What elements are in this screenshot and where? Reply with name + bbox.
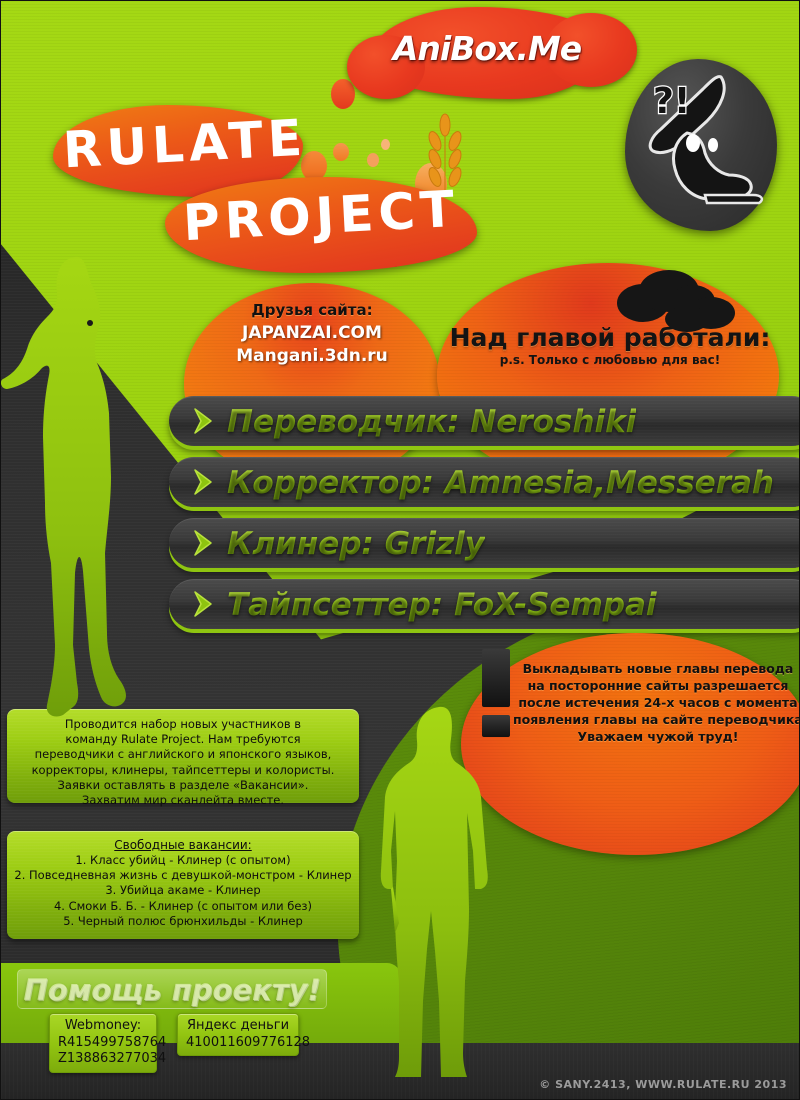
credits-subtitle: p.s. Только с любовью для вас! [447,353,773,367]
vacancy-item: 3. Убийца акаме - Клинер [13,883,353,898]
warning-text: Выкладывать новые главы перевода на пост… [513,661,800,745]
rulate-project-logo: RULATE PROJECT [53,101,523,261]
warning-line: на посторонние сайты разрешается [513,678,800,695]
svg-text:?!: ?! [653,81,690,122]
warning-line: после истечения 24-х часов с момента [513,695,800,712]
webmoney-z-purse: Z138863277034 [58,1051,148,1068]
female-silhouette [0,253,165,723]
staff-bar-cleaner[interactable]: Клинер: Grizly [169,518,800,568]
webmoney-label: Webmoney: [58,1018,148,1035]
warning-line: Уважаем чужой труд! [513,729,800,746]
friend-link-mangani[interactable]: Mangani.3dn.ru [184,346,440,366]
staff-label-cleaner: Клинер: Grizly [227,524,485,564]
vacancy-item: 1. Класс убийц - Клинер (с опытом) [13,853,353,868]
chevron-right-icon [191,590,217,618]
chevron-right-icon [191,407,217,435]
recruit-line: Заявки оставлять в разделе «Вакансии». [13,778,353,793]
chevron-right-icon [191,468,217,496]
webmoney-r-purse: R415499758764 [58,1035,148,1052]
recruit-line: Захватим мир сканлейта вместе. [13,793,353,808]
warning-line: появления главы на сайте переводчика. [513,712,800,729]
male-silhouette [369,701,517,1079]
donate-title: Помощь проекту! [17,969,327,1009]
anibox-brand-label: AniBox.Me [369,29,605,68]
yandex-number: 410011609776128 [186,1035,290,1052]
yandex-label: Яндекс деньги [186,1018,290,1035]
staff-label-proofreader: Корректор: Amnesia,Messerah [227,463,774,503]
webmoney-box[interactable]: Webmoney: R415499758764 Z138863277034 [49,1013,157,1073]
staff-label-translator: Переводчик: Neroshiki [227,402,636,442]
exclamation-icon [482,649,510,737]
cloud-icon [597,269,743,335]
friend-link-japanzai[interactable]: JAPANZAI.COM [184,323,440,343]
vacancies-panel: Свободные вакансии: 1. Класс убийц - Кли… [7,831,359,939]
recruit-line: корректоры, клинеры, тайпсеттеры и колор… [13,763,353,778]
warning-line: Выкладывать новые главы перевода [513,661,800,678]
friends-title: Друзья сайта: [184,301,440,319]
bunny-mascot-icon: ?! [625,59,777,231]
chevron-right-icon [191,529,217,557]
poster-canvas: RULATE PROJECT AniBox.Me ?! [0,0,800,1100]
copyright-text: © SANY.2413, WWW.RULATE.RU 2013 [539,1078,787,1091]
recruit-line: переводчики с английского и японского яз… [13,747,353,762]
recruitment-panel: Проводится набор новых участников в кома… [7,709,359,803]
vacancy-item: 5. Черный полюс брюнхильды - Клинер [13,914,353,929]
yandex-money-box[interactable]: Яндекс деньги 410011609776128 [177,1013,299,1056]
exclamation-dot [482,715,510,737]
staff-bar-translator[interactable]: Переводчик: Neroshiki [169,396,800,446]
recruit-line: команду Rulate Project. Нам требуются [13,732,353,747]
vacancy-item: 2. Повседневная жизнь с девушкой-монстро… [13,868,353,883]
vacancy-item: 4. Смоки Б. Б. - Клинер (с опытом или бе… [13,899,353,914]
exclamation-bar [482,649,510,707]
staff-bar-typesetter[interactable]: Тайпсеттер: FoX-Sempai [169,579,800,629]
vacancies-title: Свободные вакансии: [13,838,353,852]
staff-label-typesetter: Тайпсеттер: FoX-Sempai [227,585,657,625]
staff-bar-proofreader[interactable]: Корректор: Amnesia,Messerah [169,457,800,507]
